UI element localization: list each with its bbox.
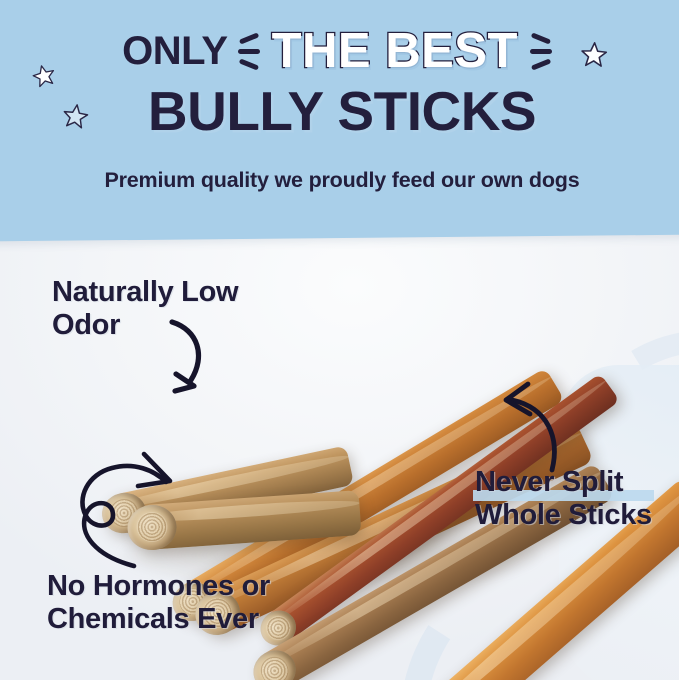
annotation-no-hormones: No Hormones or Chemicals Ever xyxy=(47,570,270,636)
annotation-line: Odor xyxy=(52,309,238,342)
annotation-line: No Hormones or xyxy=(47,570,270,603)
header-banner: ONLYTHE BEST BULLY STICKS Premium qualit… xyxy=(0,0,679,241)
dash-burst-right-icon xyxy=(525,28,555,74)
product-marketing-image: Naturally Low Odor No Hormones or Chemic… xyxy=(0,0,679,680)
title-bully-sticks: BULLY STICKS xyxy=(148,79,536,143)
arrow-curve-up-left-icon xyxy=(468,378,578,474)
title-line-one: ONLYTHE BEST xyxy=(0,23,679,79)
banner-subtitle: Premium quality we proudly feed our own … xyxy=(0,168,679,193)
dash-burst-left-icon xyxy=(235,28,265,74)
title-line-two: BULLY STICKS xyxy=(0,79,679,143)
annotation-naturally-low-odor: Naturally Low Odor xyxy=(52,276,238,342)
annotation-line: Naturally Low xyxy=(52,276,238,309)
annotation-line: Chemicals Ever xyxy=(47,603,270,636)
title-word-only: ONLY xyxy=(122,28,227,73)
annotation-line: Whole Sticks xyxy=(475,499,652,532)
annotation-never-split: Never Split Whole Sticks xyxy=(475,466,652,532)
arrow-loop-up-right-icon xyxy=(72,424,192,570)
title-word-the-best: THE BEST xyxy=(272,23,518,79)
annotation-line: Never Split xyxy=(475,466,652,499)
stick-cut-end xyxy=(246,643,303,680)
